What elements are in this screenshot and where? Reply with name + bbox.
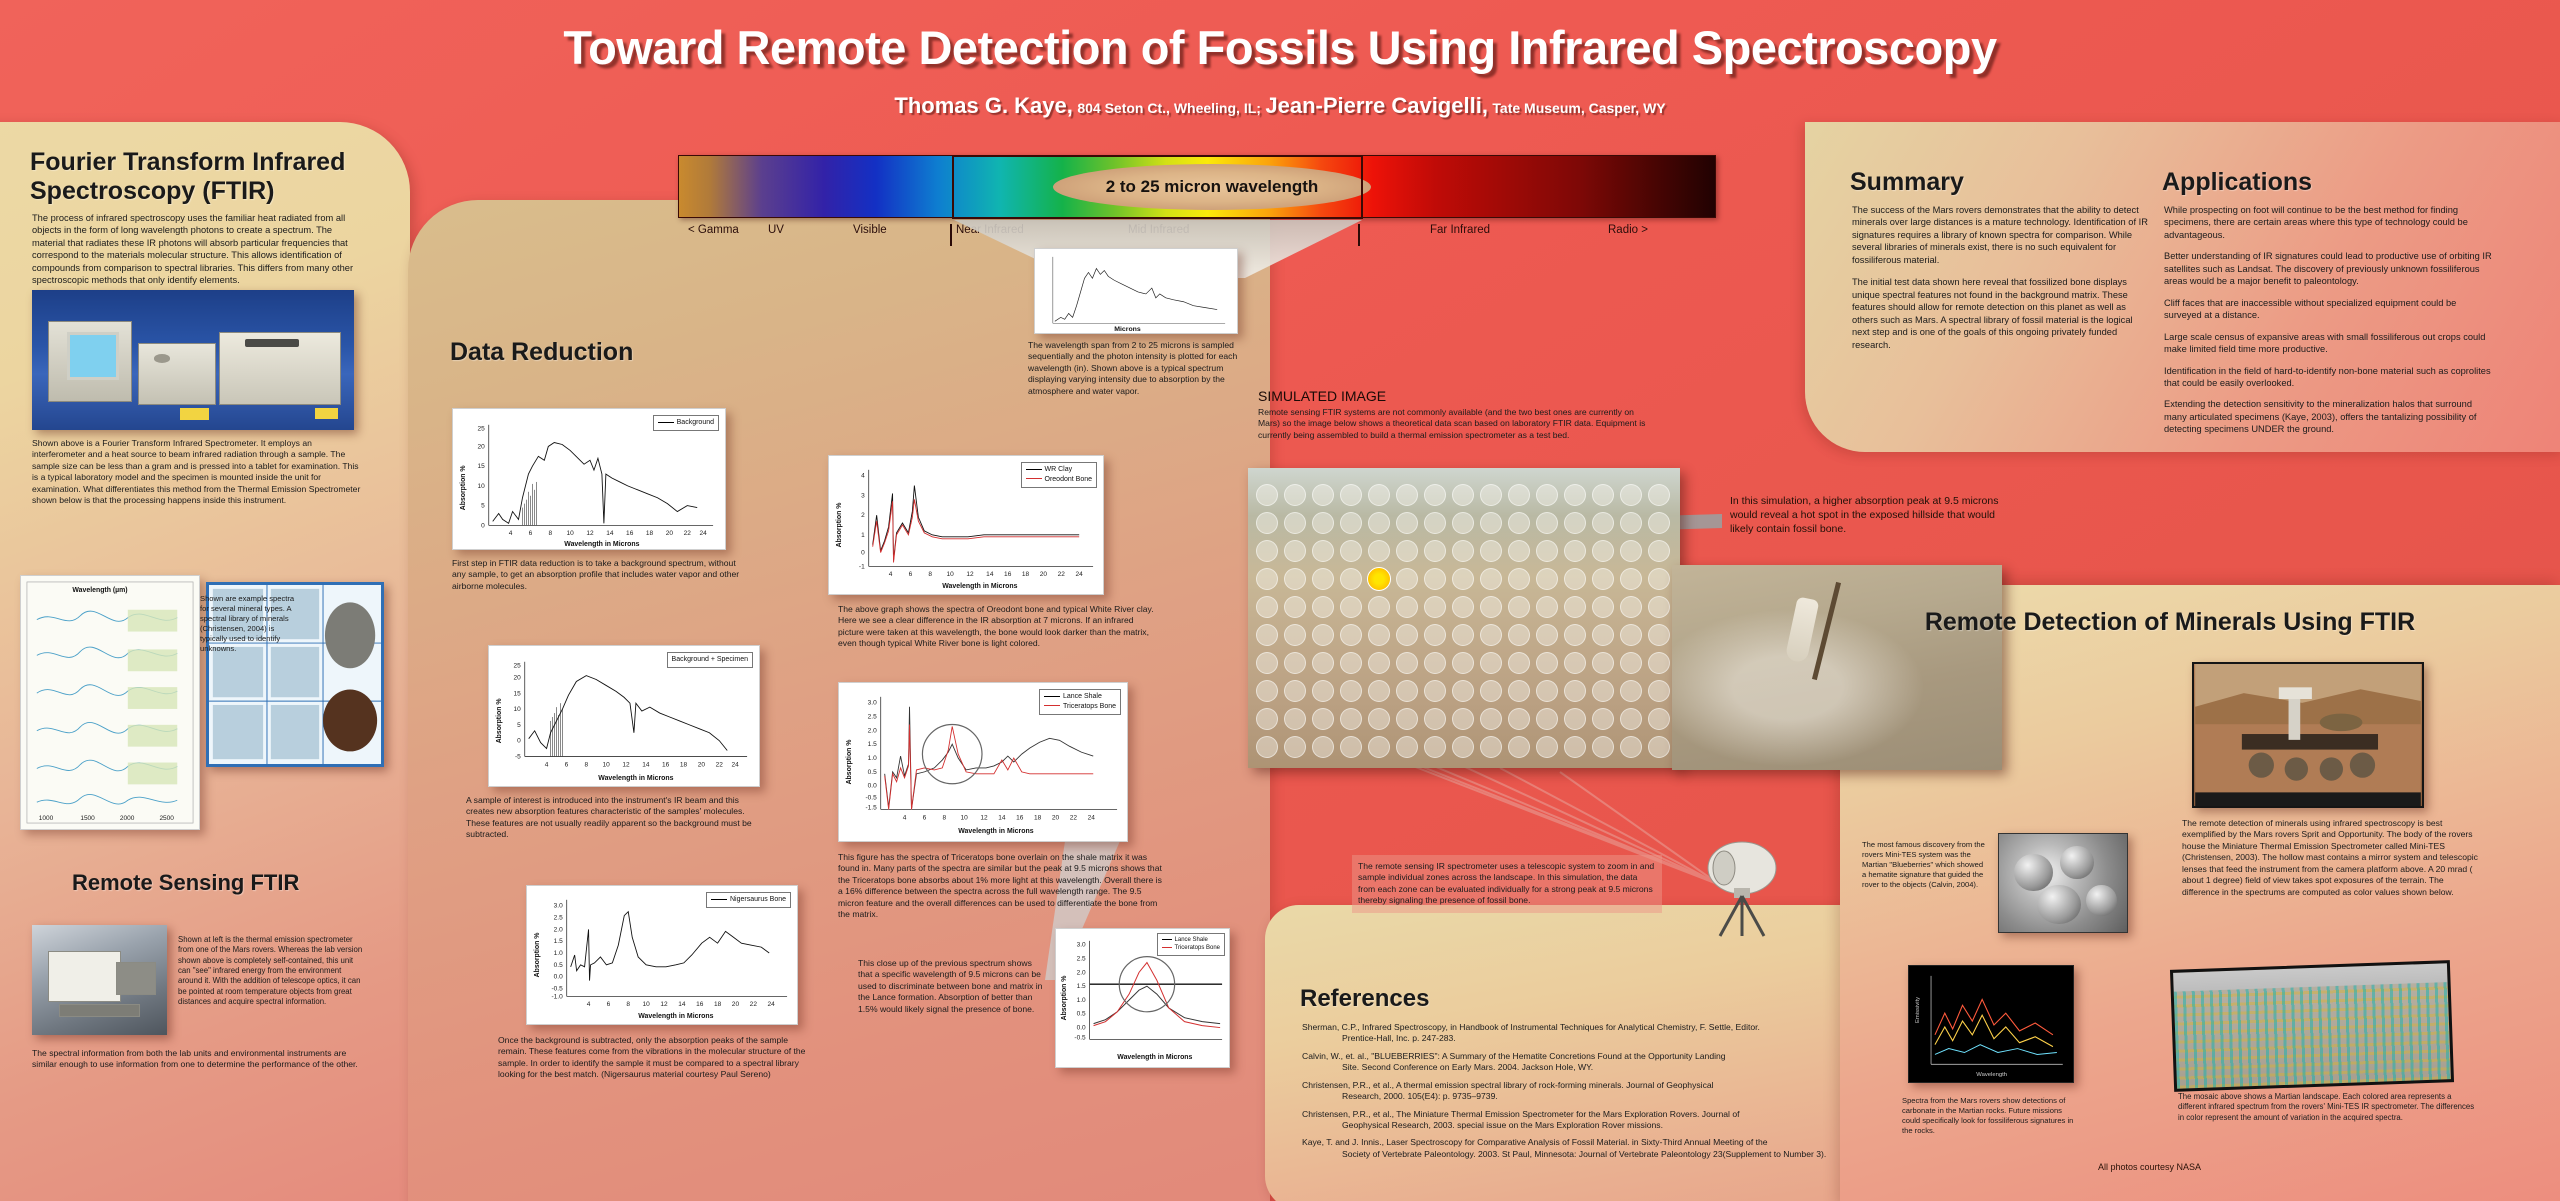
spectrum-divider-right	[1358, 224, 1360, 246]
reference-item: Kaye, T. and J. Innis., Laser Spectrosco…	[1302, 1137, 2202, 1160]
svg-text:16: 16	[696, 1001, 704, 1008]
svg-text:8: 8	[928, 571, 932, 578]
svg-text:Absorption %: Absorption %	[460, 466, 467, 511]
tes-optics	[116, 962, 157, 995]
svg-text:8: 8	[626, 1001, 630, 1008]
photo-ftir-spectrometer	[32, 290, 354, 430]
ftir-photo-caption: Shown above is a Fourier Transform Infra…	[32, 438, 362, 507]
author-2-name: Jean-Pierre Cavigelli,	[1265, 93, 1488, 118]
author-line: Thomas G. Kaye, 804 Seton Ct., Wheeling,…	[0, 93, 2560, 119]
svg-text:0.0: 0.0	[554, 974, 563, 981]
svg-text:-1.0: -1.0	[551, 993, 563, 1000]
spectrum-inset-caption: The wavelength span from 2 to 25 microns…	[1028, 340, 1253, 397]
svg-text:1.5: 1.5	[868, 741, 877, 748]
legend-oreodont: WR Clay Oreodont Bone	[1021, 462, 1097, 488]
svg-text:2000: 2000	[120, 815, 135, 822]
svg-text:Wavelength in Microns: Wavelength in Microns	[638, 1013, 713, 1020]
svg-text:Microns: Microns	[1114, 326, 1141, 333]
exposed-bone	[1784, 596, 1819, 663]
svg-text:4: 4	[587, 1001, 591, 1008]
applications-para-2: Better understanding of IR signatures co…	[2164, 250, 2494, 287]
svg-text:24: 24	[700, 530, 708, 537]
svg-text:20: 20	[1040, 571, 1048, 578]
data-reduction-caption-3: Once the background is subtracted, only …	[498, 1035, 808, 1081]
svg-text:-5: -5	[515, 753, 521, 760]
svg-text:0.5: 0.5	[1077, 1011, 1086, 1018]
svg-text:16: 16	[626, 530, 634, 537]
figure-inset-atmosphere-spectrum: Microns	[1034, 248, 1238, 334]
svg-text:0: 0	[861, 550, 865, 557]
spectrum-label-visible: Visible	[853, 224, 887, 236]
svg-text:14: 14	[606, 530, 614, 537]
references-heading: References	[1300, 985, 1600, 1013]
excavation-tool	[1812, 582, 1841, 680]
svg-text:Absorption %: Absorption %	[1061, 976, 1068, 1021]
simulated-image-heading: SIMULATED IMAGE	[1258, 388, 1658, 404]
em-spectrum-diagram: 2 to 25 micron wavelength < Gamma UV Vis…	[678, 155, 1716, 244]
tes-body	[48, 951, 121, 1002]
poster-root: Toward Remote Detection of Fossils Using…	[0, 0, 2560, 1201]
spectrum-label-far-ir: Far Infrared	[1430, 224, 1490, 236]
svg-text:24: 24	[1088, 814, 1096, 821]
svg-text:1.5: 1.5	[1077, 983, 1086, 990]
svg-text:18: 18	[1022, 571, 1030, 578]
spectrum-label-uv: UV	[768, 224, 784, 236]
figure-background-plus-specimen: 468 101214 161820 2224 -505 10152025 Wav…	[488, 645, 760, 787]
svg-text:Wavelength in Microns: Wavelength in Microns	[598, 775, 673, 782]
svg-text:16: 16	[662, 761, 670, 768]
svg-text:12: 12	[966, 571, 974, 578]
svg-text:2500: 2500	[159, 815, 174, 822]
svg-text:6: 6	[909, 571, 913, 578]
svg-text:3.0: 3.0	[1077, 942, 1086, 949]
svg-text:2.5: 2.5	[1077, 956, 1086, 963]
svg-text:25: 25	[513, 663, 521, 670]
figure-background-spectrum: 468 101214 161820 2224 0510 152025 Wavel…	[452, 408, 726, 550]
sensor-caption: The remote sensing IR spectrometer uses …	[1352, 855, 1662, 913]
svg-text:10: 10	[946, 571, 954, 578]
svg-text:22: 22	[684, 530, 692, 537]
svg-text:22: 22	[716, 761, 724, 768]
svg-text:16: 16	[1016, 814, 1024, 821]
figure-oreodont-vs-clay: 468 101214 161820 2224 432 10-1 Waveleng…	[828, 455, 1104, 595]
svg-text:20: 20	[666, 530, 674, 537]
svg-text:Absorption %: Absorption %	[836, 503, 843, 548]
data-reduction-caption-5: This figure has the spectra of Tricerato…	[838, 852, 1168, 921]
applications-para-4: Large scale census of expansive areas wi…	[2164, 331, 2494, 356]
svg-text:10: 10	[960, 814, 968, 821]
svg-text:-1: -1	[859, 563, 865, 570]
blueberry-3	[2037, 885, 2081, 924]
svg-text:20: 20	[1052, 814, 1060, 821]
svg-text:16: 16	[1004, 571, 1012, 578]
svg-text:3.0: 3.0	[554, 903, 563, 910]
svg-text:4: 4	[545, 761, 549, 768]
svg-text:1000: 1000	[39, 815, 54, 822]
svg-text:0.0: 0.0	[1077, 1025, 1086, 1032]
svg-text:2.0: 2.0	[1077, 969, 1086, 976]
spectrum-divider-left	[950, 224, 952, 246]
author-2-affiliation: Tate Museum, Casper, WY	[1492, 100, 1665, 116]
svg-text:Wavelength in Microns: Wavelength in Microns	[958, 828, 1033, 835]
page-title: Toward Remote Detection of Fossils Using…	[0, 20, 2560, 75]
svg-text:4: 4	[509, 530, 513, 537]
remote-sensing-ftir-heading: Remote Sensing FTIR	[72, 870, 372, 896]
spectrum-label-gamma: < Gamma	[688, 224, 739, 236]
svg-text:-0.5: -0.5	[1074, 1034, 1086, 1041]
photo-hillside-simulation	[1248, 468, 1680, 768]
ftir-heading: Fourier Transform Infrared Spectroscopy …	[30, 148, 360, 206]
svg-text:2: 2	[861, 512, 865, 519]
svg-text:1.5: 1.5	[554, 938, 563, 945]
svg-text:15: 15	[513, 690, 521, 697]
data-reduction-caption-2: A sample of interest is introduced into …	[466, 795, 766, 841]
mosaic-caption: The mosaic above shows a Martian landsca…	[2178, 1092, 2478, 1123]
svg-text:3.0: 3.0	[868, 700, 877, 707]
remote-sensing-caption: Shown at left is the thermal emission sp…	[178, 935, 364, 1008]
legend-nigersaurus: Nigersaurus Bone	[706, 892, 791, 908]
applications-heading: Applications	[2162, 168, 2492, 197]
legend-background-specimen: Background + Specimen	[667, 652, 753, 668]
applications-para-3: Cliff faces that are inaccessible withou…	[2164, 297, 2494, 322]
photo-mars-rover	[2192, 662, 2424, 808]
spectrum-label-near-ir: Near Infrared	[956, 224, 1024, 236]
reference-item: Calvin, W., et. al., "BLUEBERRIES": A Su…	[1302, 1051, 2202, 1074]
spectrum-label-mid-ir: Mid Infrared	[1128, 224, 1189, 236]
svg-text:10: 10	[477, 483, 485, 490]
svg-text:24: 24	[768, 1001, 776, 1008]
svg-text:4: 4	[903, 814, 907, 821]
svg-text:6: 6	[923, 814, 927, 821]
svg-text:8: 8	[548, 530, 552, 537]
svg-text:Wavelength in Microns: Wavelength in Microns	[564, 541, 639, 548]
svg-text:18: 18	[714, 1001, 722, 1008]
svg-text:2.0: 2.0	[868, 727, 877, 734]
svg-text:24: 24	[1076, 571, 1084, 578]
applications-body: While prospecting on foot will continue …	[2164, 204, 2494, 436]
svg-text:22: 22	[750, 1001, 758, 1008]
svg-text:12: 12	[660, 1001, 668, 1008]
svg-text:Emissivity: Emissivity	[1915, 997, 1921, 1023]
svg-text:1: 1	[861, 532, 865, 539]
data-reduction-heading: Data Reduction	[450, 338, 850, 367]
svg-text:10: 10	[642, 1001, 650, 1008]
illustration-remote-spectrometer	[1690, 830, 1800, 940]
svg-text:22: 22	[1058, 571, 1066, 578]
svg-text:0: 0	[517, 738, 521, 745]
svg-text:-1.5: -1.5	[865, 804, 877, 811]
legend-lance-triceratops: Lance Shale Triceratops Bone	[1039, 689, 1121, 715]
svg-text:14: 14	[986, 571, 994, 578]
photo-martian-mosaic	[2170, 960, 2454, 1092]
svg-text:0.5: 0.5	[554, 962, 563, 969]
svg-text:12: 12	[622, 761, 630, 768]
ftir-spectra-caption: Shown are example spectra for several mi…	[200, 594, 300, 655]
svg-text:Wavelength (µm): Wavelength (µm)	[72, 587, 127, 594]
summary-body: The success of the Mars rovers demonstra…	[1852, 204, 2148, 351]
ftir-sample-slot	[245, 339, 300, 347]
svg-text:20: 20	[698, 761, 706, 768]
svg-text:6: 6	[529, 530, 533, 537]
svg-text:6: 6	[565, 761, 569, 768]
svg-text:5: 5	[481, 503, 485, 510]
simulation-sample-grid	[1248, 468, 1680, 768]
svg-text:24: 24	[732, 761, 740, 768]
svg-text:0.5: 0.5	[868, 769, 877, 776]
svg-text:2.5: 2.5	[554, 915, 563, 922]
svg-text:6: 6	[607, 1001, 611, 1008]
blueberry-2	[2060, 846, 2093, 879]
svg-text:14: 14	[642, 761, 650, 768]
svg-text:-0.5: -0.5	[865, 795, 877, 802]
blueberry-4	[2086, 885, 2117, 916]
ftir-monitor-screen	[67, 332, 119, 380]
svg-text:20: 20	[732, 1001, 740, 1008]
minerals-heading: Remote Detection of Minerals Using FTIR	[1880, 608, 2460, 637]
remote-sensing-caption-2: The spectral information from both the l…	[32, 1048, 372, 1071]
svg-text:2.5: 2.5	[868, 714, 877, 721]
ftir-intro: The process of infrared spectroscopy use…	[32, 212, 367, 287]
blueberries-caption: The most famous discovery from the rover…	[1862, 840, 1988, 890]
svg-text:5: 5	[517, 722, 521, 729]
reference-item: Sherman, C.P., Infrared Spectroscopy, in…	[1302, 1022, 2202, 1045]
svg-text:3: 3	[861, 492, 865, 499]
svg-text:10: 10	[513, 706, 521, 713]
author-1-affiliation: 804 Seton Ct., Wheeling, IL;	[1077, 100, 1261, 116]
figure-mineral-spectra-library: Wavelength (µm) 10001500 20002500	[20, 575, 200, 830]
svg-text:Wavelength in Microns: Wavelength in Microns	[1117, 1054, 1192, 1061]
svg-text:8: 8	[942, 814, 946, 821]
svg-text:1.0: 1.0	[868, 755, 877, 762]
svg-text:22: 22	[1070, 814, 1078, 821]
simulated-image-block: SIMULATED IMAGE Remote sensing FTIR syst…	[1258, 388, 1658, 441]
hotspot-callout-text: In this simulation, a higher absorption …	[1730, 494, 2020, 537]
svg-text:25: 25	[477, 426, 485, 433]
svg-text:Absorption %: Absorption %	[534, 933, 541, 978]
svg-text:-0.5: -0.5	[551, 986, 563, 993]
data-reduction-caption-6: This close up of the previous spectrum s…	[858, 958, 1046, 1015]
svg-text:Absorption %: Absorption %	[846, 740, 853, 785]
applications-para-5: Identification in the field of hard-to-i…	[2164, 365, 2494, 390]
svg-text:20: 20	[477, 443, 485, 450]
svg-text:8: 8	[584, 761, 588, 768]
ftir-warning-label-2	[315, 408, 338, 419]
ftir-warning-label-1	[180, 408, 209, 421]
spectrum-band-labels: < Gamma UV Visible Near Infrared Mid Inf…	[678, 222, 1716, 244]
hotspot-marker	[1367, 567, 1391, 591]
svg-text:12: 12	[586, 530, 594, 537]
svg-text:4: 4	[889, 571, 893, 578]
svg-text:Wavelength in Microns: Wavelength in Microns	[942, 583, 1017, 590]
svg-text:20: 20	[513, 675, 521, 682]
svg-text:10: 10	[567, 530, 575, 537]
ftir-knob	[154, 354, 170, 362]
legend-background: Background	[653, 415, 719, 431]
spectrum-label-radio: Radio >	[1608, 224, 1648, 236]
figure-closeup-9p5-micron: 3.02.52.0 1.51.00.5 0.0-0.5 Wavelength i…	[1055, 928, 1230, 1068]
data-reduction-caption-1: First step in FTIR data reduction is to …	[452, 558, 748, 592]
references-list: Sherman, C.P., Infrared Spectroscopy, in…	[1302, 1022, 2202, 1166]
applications-para-6: Extending the detection sensitivity to t…	[2164, 398, 2494, 435]
ftir-module-mid	[138, 343, 215, 405]
svg-text:14: 14	[998, 814, 1006, 821]
figure-lance-shale-vs-triceratops: 468 101214 161820 2224 3.02.52.0 1.51.00…	[838, 682, 1128, 842]
svg-text:18: 18	[1034, 814, 1042, 821]
reference-item: Christensen, P.R., et al., The Miniature…	[1302, 1109, 2202, 1132]
svg-text:Absorption %: Absorption %	[496, 699, 503, 744]
blueberry-1	[2014, 854, 2052, 891]
svg-text:10: 10	[602, 761, 610, 768]
reference-item: Christensen, P.R., et al., A thermal emi…	[1302, 1080, 2202, 1103]
data-reduction-caption-4: The above graph shows the spectra of Ore…	[838, 604, 1158, 650]
spectrum-range-bubble: 2 to 25 micron wavelength	[1053, 164, 1371, 210]
photo-martian-blueberries	[1998, 833, 2128, 933]
legend-closeup: Lance Shale Triceratops Bone	[1157, 933, 1225, 956]
minerals-body: The remote detection of minerals using i…	[2182, 818, 2482, 898]
svg-text:18: 18	[680, 761, 688, 768]
svg-text:4: 4	[861, 473, 865, 480]
figure-nigersaurus-bone: 468 101214 161820 2224 3.02.52.0 1.51.00…	[526, 885, 798, 1025]
svg-text:2.0: 2.0	[554, 926, 563, 933]
photo-thermal-emission-spectrometer	[32, 925, 167, 1035]
tes-base	[59, 1004, 140, 1017]
svg-text:0.0: 0.0	[868, 783, 877, 790]
applications-para-1: While prospecting on foot will continue …	[2164, 204, 2494, 241]
author-1-name: Thomas G. Kaye,	[894, 93, 1073, 118]
photo-excavation-site	[1672, 565, 2002, 770]
svg-text:14: 14	[678, 1001, 686, 1008]
svg-text:1.0: 1.0	[1077, 997, 1086, 1004]
svg-text:0: 0	[481, 522, 485, 529]
svg-text:1500: 1500	[80, 815, 95, 822]
summary-heading: Summary	[1850, 168, 2150, 197]
svg-text:12: 12	[980, 814, 988, 821]
svg-text:15: 15	[477, 463, 485, 470]
svg-text:18: 18	[646, 530, 654, 537]
svg-text:1.0: 1.0	[554, 950, 563, 957]
